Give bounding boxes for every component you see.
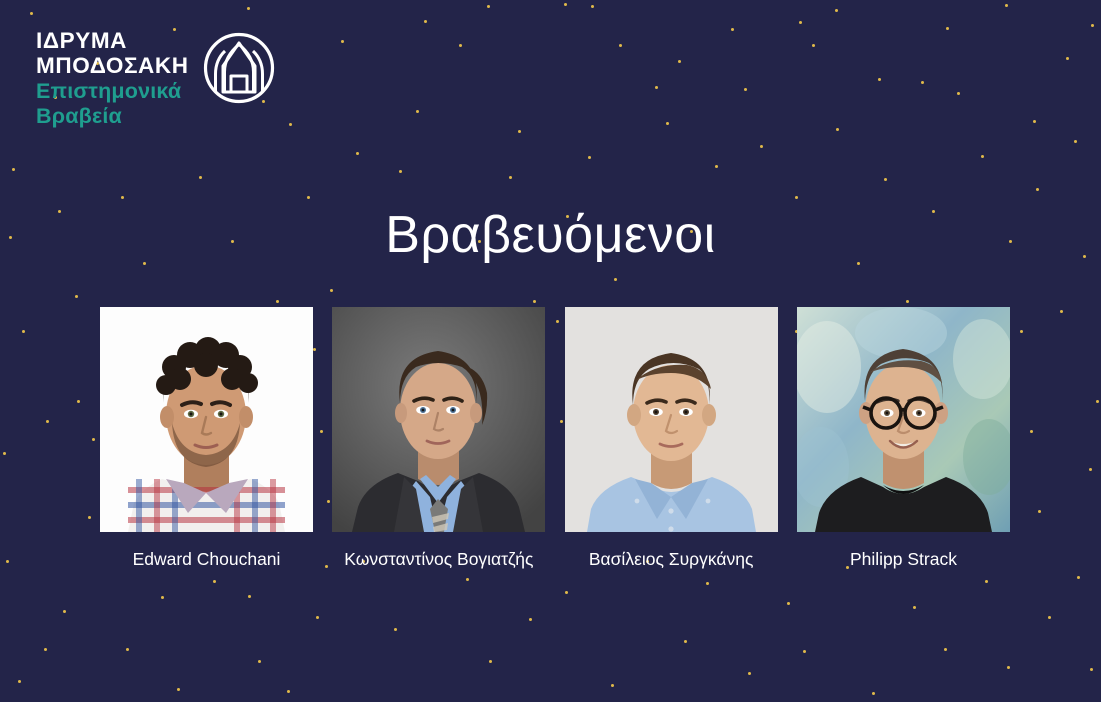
star-dot [330, 289, 333, 292]
star-dot [287, 690, 290, 693]
star-dot [199, 176, 202, 179]
star-dot [92, 438, 95, 441]
star-dot [529, 618, 532, 621]
star-dot [591, 5, 594, 8]
star-dot [18, 680, 21, 683]
star-dot [564, 3, 567, 6]
star-dot [1038, 510, 1041, 513]
star-dot [12, 168, 15, 171]
star-dot [399, 170, 402, 173]
star-dot [787, 602, 790, 605]
star-dot [957, 92, 960, 95]
star-dot [678, 60, 681, 63]
star-dot [655, 86, 658, 89]
star-dot [121, 196, 124, 199]
slide-canvas: ΙΔΡΥΜΑ ΜΠΟΔΟΣΑΚΗ Επιστημονικά Βραβεία Βρ… [0, 0, 1101, 702]
star-dot [1048, 616, 1051, 619]
portrait-edward-chouchani [100, 307, 313, 532]
star-dot [985, 580, 988, 583]
star-dot [341, 40, 344, 43]
star-dot [466, 578, 469, 581]
star-dot [835, 9, 838, 12]
star-dot [6, 560, 9, 563]
awardees-row: Edward Chouchani [100, 307, 1010, 570]
awardee-card[interactable]: Edward Chouchani [100, 307, 313, 570]
star-dot [884, 178, 887, 181]
star-dot [307, 196, 310, 199]
bodossaki-foundation-logo[interactable]: ΙΔΡΥΜΑ ΜΠΟΔΟΣΑΚΗ Επιστημονικά Βραβεία [36, 30, 275, 127]
star-dot [1030, 430, 1033, 433]
star-dot [1091, 24, 1094, 27]
star-dot [611, 684, 614, 687]
star-dot [177, 688, 180, 691]
star-dot [1074, 140, 1077, 143]
star-dot [1036, 188, 1039, 191]
logo-line-vraveia: Βραβεία [36, 106, 189, 128]
star-dot [913, 606, 916, 609]
star-dot [1007, 666, 1010, 669]
star-dot [1096, 400, 1099, 403]
star-dot [289, 123, 292, 126]
star-dot [812, 44, 815, 47]
awardee-card[interactable]: Philipp Strack [797, 307, 1010, 570]
star-dot [533, 300, 536, 303]
portrait-philipp-strack [797, 307, 1010, 532]
star-dot [63, 610, 66, 613]
star-dot [588, 156, 591, 159]
portrait-vasilios-syrgkanis [565, 307, 778, 532]
star-dot [1033, 120, 1036, 123]
star-dot [356, 152, 359, 155]
star-dot [946, 27, 949, 30]
star-dot [30, 12, 33, 15]
star-dot [706, 582, 709, 585]
logo-line-epistimonika: Επιστημονικά [36, 81, 189, 103]
star-dot [760, 145, 763, 148]
star-dot [509, 176, 512, 179]
star-dot [803, 650, 806, 653]
star-dot [518, 130, 521, 133]
star-dot [836, 128, 839, 131]
star-dot [3, 452, 6, 455]
star-dot [795, 196, 798, 199]
star-dot [684, 640, 687, 643]
star-dot [799, 21, 802, 24]
awardee-name: Edward Chouchani [133, 549, 281, 570]
star-dot [276, 300, 279, 303]
star-dot [161, 596, 164, 599]
awardee-card[interactable]: Βασίλειος Συργκάνης [565, 307, 778, 570]
star-dot [75, 295, 78, 298]
star-dot [614, 278, 617, 281]
star-dot [666, 122, 669, 125]
star-dot [1020, 330, 1023, 333]
star-dot [872, 692, 875, 695]
star-dot [126, 648, 129, 651]
star-dot [487, 5, 490, 8]
star-dot [459, 44, 462, 47]
star-dot [878, 78, 881, 81]
star-dot [715, 165, 718, 168]
star-dot [981, 155, 984, 158]
star-dot [258, 660, 261, 663]
star-dot [88, 516, 91, 519]
star-dot [744, 88, 747, 91]
star-dot [489, 660, 492, 663]
star-dot [944, 648, 947, 651]
star-dot [22, 330, 25, 333]
logo-line-bodossaki: ΜΠΟΔΟΣΑΚΗ [36, 55, 189, 78]
star-dot [394, 628, 397, 631]
star-dot [1089, 468, 1092, 471]
logo-line-idryma: ΙΔΡΥΜΑ [36, 30, 189, 53]
awardee-name: Βασίλειος Συργκάνης [589, 549, 754, 570]
star-dot [424, 20, 427, 23]
star-dot [619, 44, 622, 47]
logo-wordmark: ΙΔΡΥΜΑ ΜΠΟΔΟΣΑΚΗ Επιστημονικά Βραβεία [36, 30, 189, 127]
star-dot [565, 591, 568, 594]
star-dot [44, 648, 47, 651]
star-dot [1077, 576, 1080, 579]
awardee-name: Philipp Strack [850, 549, 957, 570]
star-dot [247, 7, 250, 10]
star-dot [416, 110, 419, 113]
star-dot [1090, 668, 1093, 671]
bodossaki-arch-emblem-icon [203, 32, 275, 109]
page-title: Βραβευόμενοι [0, 205, 1101, 265]
star-dot [316, 616, 319, 619]
star-dot [731, 28, 734, 31]
star-dot [77, 400, 80, 403]
star-dot [46, 420, 49, 423]
star-dot [213, 580, 216, 583]
awardee-name: Κωνσταντίνος Βογιατζής [344, 549, 533, 570]
star-dot [748, 672, 751, 675]
star-dot [1060, 310, 1063, 313]
star-dot [906, 300, 909, 303]
awardee-card[interactable]: Κωνσταντίνος Βογιατζής [332, 307, 545, 570]
star-dot [921, 81, 924, 84]
star-dot [248, 595, 251, 598]
portrait-konstantinos-vogiatzis [332, 307, 545, 532]
star-dot [1066, 57, 1069, 60]
star-dot [1005, 4, 1008, 7]
